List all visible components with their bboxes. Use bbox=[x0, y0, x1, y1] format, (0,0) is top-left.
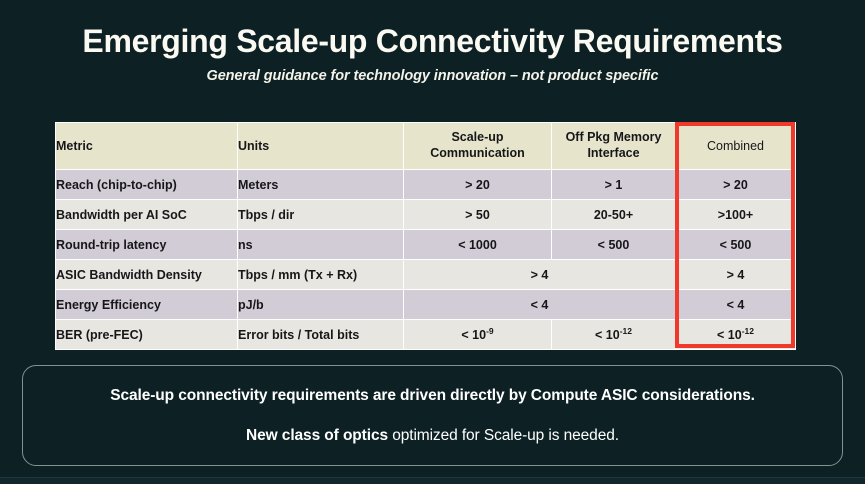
row-metric-asic-bandwidth-density: ASIC Bandwidth Density bbox=[56, 260, 238, 290]
row-metric-bandwidth-per-ai-soc: Bandwidth per AI SoC bbox=[56, 200, 238, 230]
page-title: Emerging Scale-up Connectivity Requireme… bbox=[0, 24, 865, 60]
column-header-scale-up: Scale-up Communication bbox=[404, 123, 552, 170]
cell-ber-off-pkg: < 10-12 bbox=[552, 320, 676, 350]
requirements-table-wrapper: Metric Units Scale-up Communication Off … bbox=[55, 122, 795, 350]
page-subtitle: General guidance for technology innovati… bbox=[0, 68, 865, 84]
callout-box: Scale-up connectivity requirements are d… bbox=[22, 365, 843, 466]
cell-ber-off-pkg-base: < 10 bbox=[595, 328, 620, 342]
table-row: Round-trip latency ns < 1000 < 500 < 500 bbox=[56, 230, 796, 260]
requirements-table: Metric Units Scale-up Communication Off … bbox=[55, 122, 796, 350]
cell-ber-off-pkg-exponent: -12 bbox=[620, 325, 632, 335]
column-header-scale-up-line2: Communication bbox=[430, 146, 524, 160]
row-metric-reach: Reach (chip-to-chip) bbox=[56, 170, 238, 200]
row-metric-round-trip-latency: Round-trip latency bbox=[56, 230, 238, 260]
cell-ber-combined-base: < 10 bbox=[717, 328, 742, 342]
row-units-reach: Meters bbox=[238, 170, 404, 200]
cell-reach-off-pkg: > 1 bbox=[552, 170, 676, 200]
column-header-combined: Combined bbox=[676, 123, 796, 170]
cell-latency-off-pkg: < 500 bbox=[552, 230, 676, 260]
table-row: Energy Efficiency pJ/b < 4 < 4 bbox=[56, 290, 796, 320]
title-block: Emerging Scale-up Connectivity Requireme… bbox=[0, 24, 865, 84]
callout-line-2-emphasis: New class of optics bbox=[246, 427, 388, 444]
callout-line-1: Scale-up connectivity requirements are d… bbox=[110, 387, 755, 405]
table-row: Bandwidth per AI SoC Tbps / dir > 50 20-… bbox=[56, 200, 796, 230]
row-metric-energy-efficiency: Energy Efficiency bbox=[56, 290, 238, 320]
table-header: Metric Units Scale-up Communication Off … bbox=[56, 123, 796, 170]
table-header-row: Metric Units Scale-up Communication Off … bbox=[56, 123, 796, 170]
table-body: Reach (chip-to-chip) Meters > 20 > 1 > 2… bbox=[56, 170, 796, 350]
column-header-off-pkg-line1: Off Pkg Memory bbox=[566, 130, 662, 144]
cell-latency-scale-up: < 1000 bbox=[404, 230, 552, 260]
cell-ber-scale-up-base: < 10 bbox=[461, 328, 486, 342]
row-units-asic-bandwidth-density: Tbps / mm (Tx + Rx) bbox=[238, 260, 404, 290]
cell-reach-combined: > 20 bbox=[676, 170, 796, 200]
cell-ber-scale-up: < 10-9 bbox=[404, 320, 552, 350]
bottom-accent-strip bbox=[0, 477, 865, 484]
row-units-bandwidth-per-ai-soc: Tbps / dir bbox=[238, 200, 404, 230]
row-units-ber-pre-fec: Error bits / Total bits bbox=[238, 320, 404, 350]
cell-ber-scale-up-exponent: -9 bbox=[486, 325, 494, 335]
cell-reach-scale-up: > 20 bbox=[404, 170, 552, 200]
column-header-metric: Metric bbox=[56, 123, 238, 170]
cell-energy-efficiency-merged: < 4 bbox=[404, 290, 676, 320]
cell-bandwidth-combined: >100+ bbox=[676, 200, 796, 230]
cell-bandwidth-scale-up: > 50 bbox=[404, 200, 552, 230]
cell-ber-combined: < 10-12 bbox=[676, 320, 796, 350]
cell-latency-combined: < 500 bbox=[676, 230, 796, 260]
column-header-off-pkg-line2: Interface bbox=[587, 146, 639, 160]
cell-asic-density-merged: > 4 bbox=[404, 260, 676, 290]
row-units-energy-efficiency: pJ/b bbox=[238, 290, 404, 320]
slide-root: Emerging Scale-up Connectivity Requireme… bbox=[0, 0, 865, 484]
row-metric-ber-pre-fec: BER (pre-FEC) bbox=[56, 320, 238, 350]
column-header-units: Units bbox=[238, 123, 404, 170]
callout-line-2: New class of optics optimized for Scale-… bbox=[246, 427, 619, 445]
column-header-off-pkg-memory: Off Pkg Memory Interface bbox=[552, 123, 676, 170]
column-header-scale-up-line1: Scale-up bbox=[451, 130, 503, 144]
cell-energy-efficiency-combined: < 4 bbox=[676, 290, 796, 320]
row-units-round-trip-latency: ns bbox=[238, 230, 404, 260]
table-row: ASIC Bandwidth Density Tbps / mm (Tx + R… bbox=[56, 260, 796, 290]
cell-asic-density-combined: > 4 bbox=[676, 260, 796, 290]
cell-bandwidth-off-pkg: 20-50+ bbox=[552, 200, 676, 230]
callout-line-2-rest: optimized for Scale-up is needed. bbox=[388, 427, 619, 444]
cell-ber-combined-exponent: -12 bbox=[742, 325, 754, 335]
table-row: BER (pre-FEC) Error bits / Total bits < … bbox=[56, 320, 796, 350]
table-row: Reach (chip-to-chip) Meters > 20 > 1 > 2… bbox=[56, 170, 796, 200]
